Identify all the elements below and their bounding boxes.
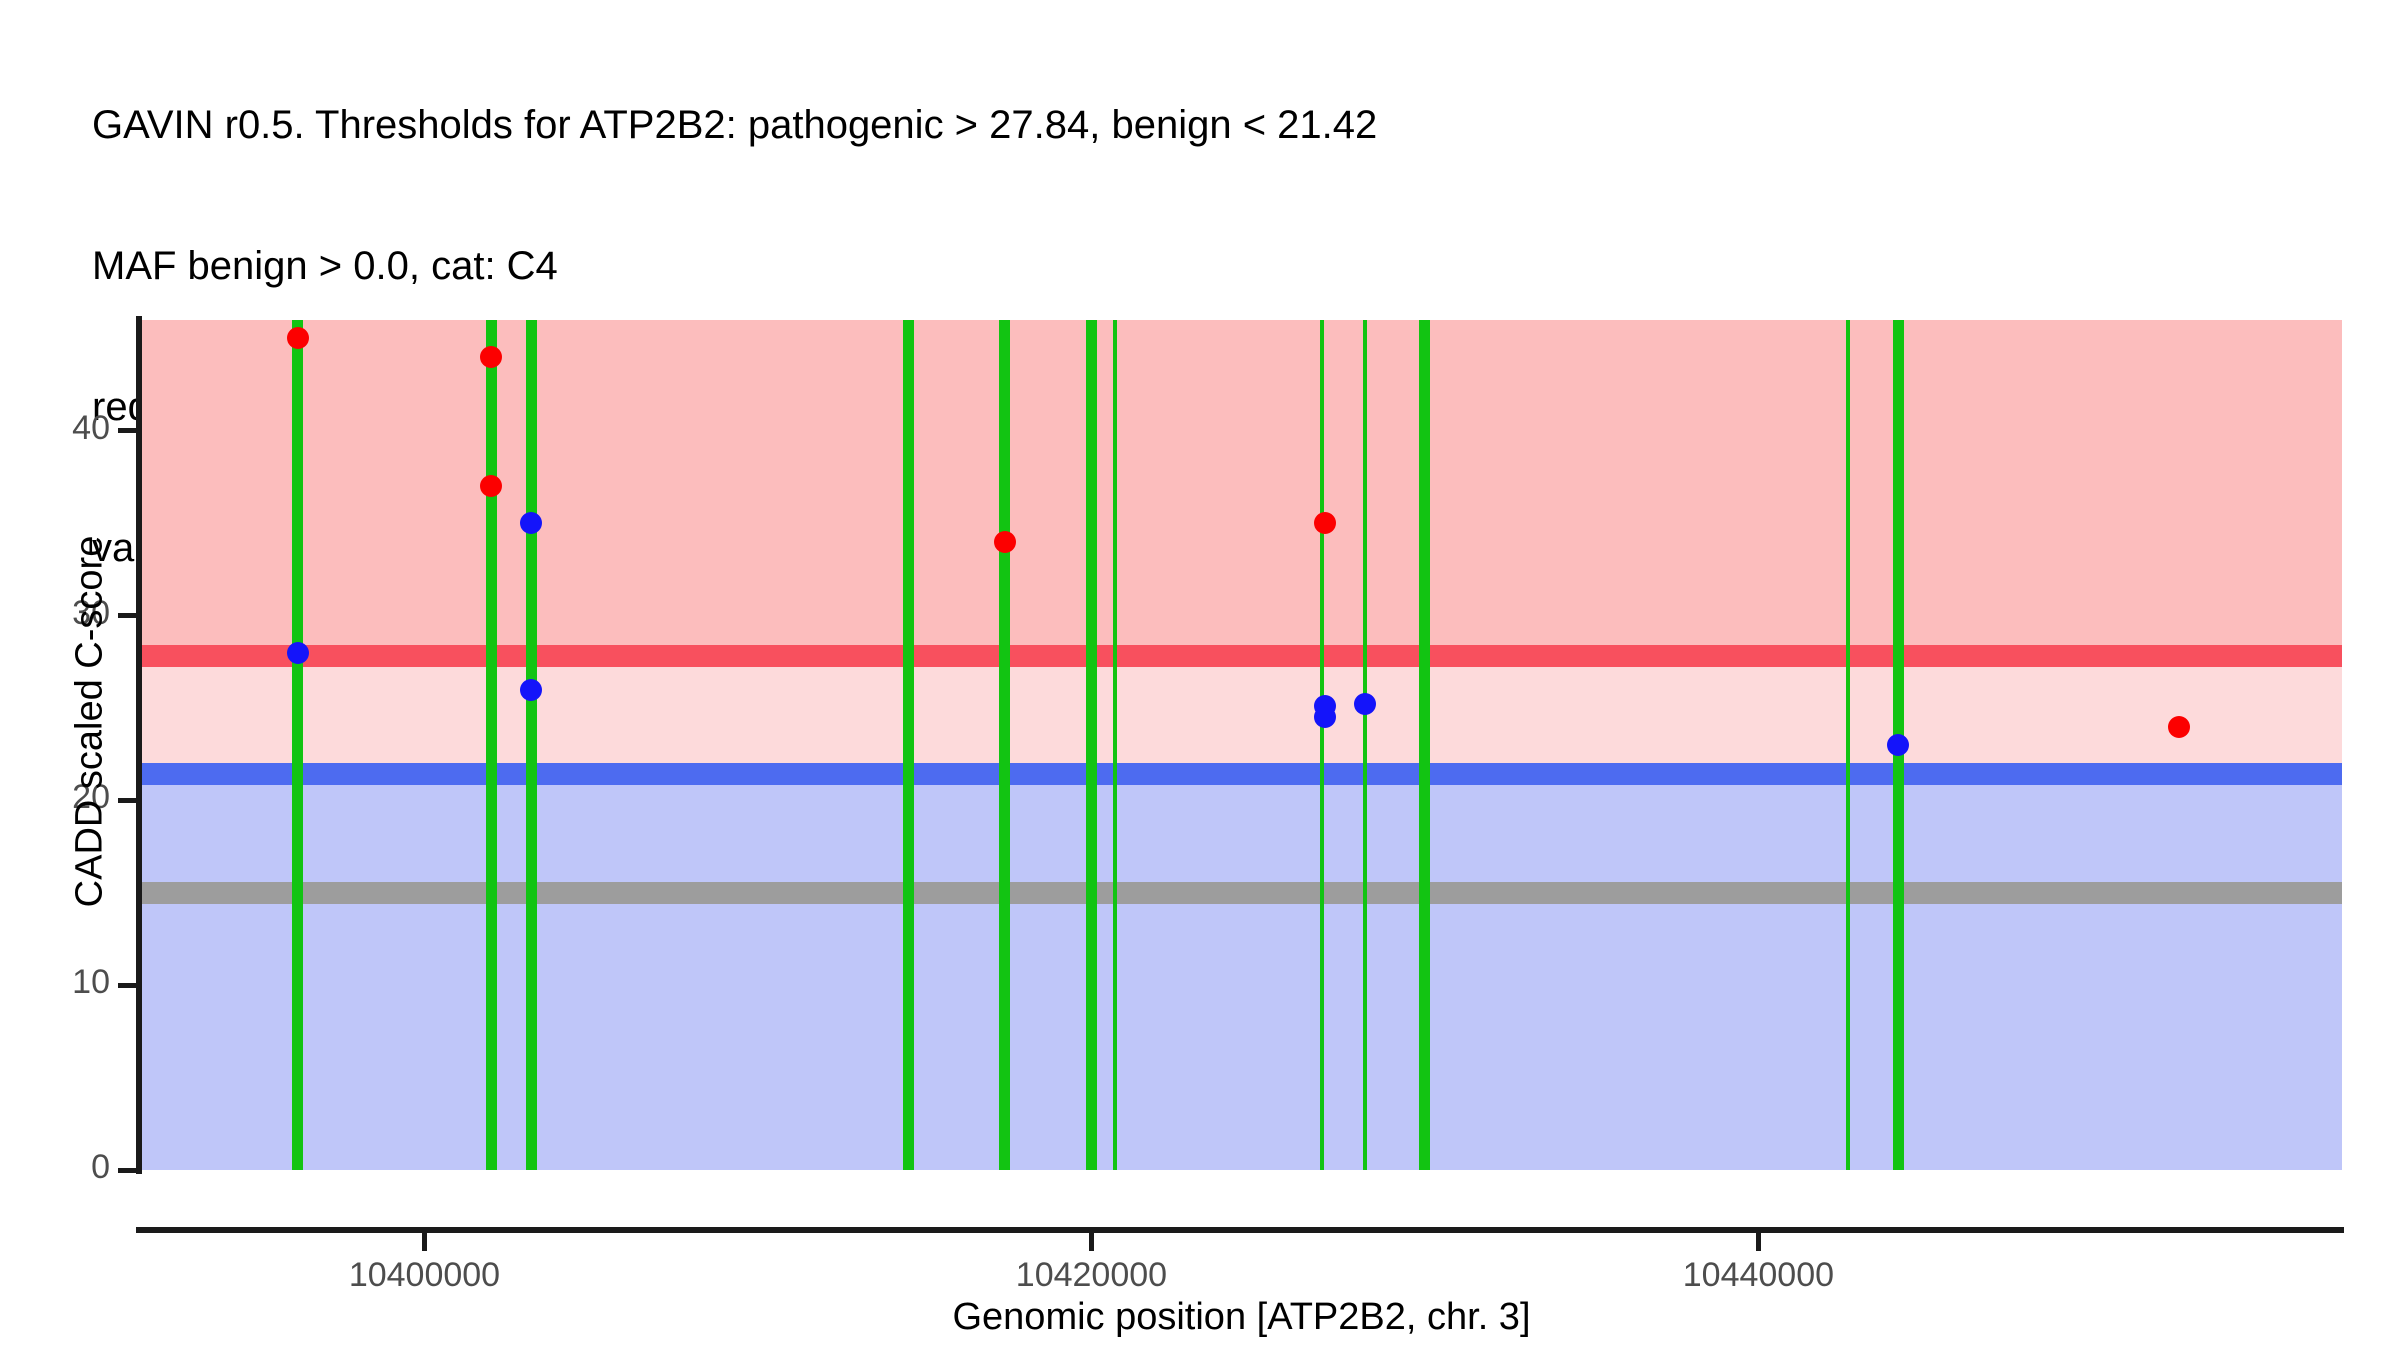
- y-tick-mark: [118, 798, 136, 803]
- pathogenic-variant-point: [2168, 716, 2190, 738]
- pathogenic-variant-point: [994, 531, 1016, 553]
- fallback-threshold-line: [141, 882, 2342, 904]
- x-axis-title: Genomic position [ATP2B2, chr. 3]: [141, 1296, 2342, 1339]
- plot-panel: [141, 320, 2342, 1170]
- ambiguous-region: [141, 656, 2342, 775]
- y-tick-mark: [118, 1168, 136, 1173]
- y-tick-mark: [118, 983, 136, 988]
- y-tick-mark: [118, 613, 136, 618]
- gnomad-variant-point: [1314, 706, 1336, 728]
- pathogenic-variant-point: [480, 346, 502, 368]
- y-axis-title: CADD scaled C-score: [69, 292, 112, 1152]
- y-tick-mark: [118, 428, 136, 433]
- exon-line: [1363, 320, 1367, 1170]
- pathogenic-region: [141, 320, 2342, 656]
- x-tick-mark: [1089, 1233, 1094, 1251]
- gnomad-variant-point: [520, 679, 542, 701]
- x-tick-label: 10420000: [1016, 1256, 1167, 1295]
- x-axis-line: [136, 1227, 2344, 1233]
- exon-line: [903, 320, 914, 1170]
- plot-area: 010203040 104000001042000010440000 CADD …: [0, 0, 2400, 1350]
- y-axis-line: [136, 316, 142, 1174]
- pathogenic-variant-point: [1314, 512, 1336, 534]
- pathogenic-threshold-line: [141, 645, 2342, 667]
- y-tick-label: 0: [40, 1148, 110, 1187]
- x-tick-label: 10400000: [349, 1256, 500, 1295]
- gnomad-variant-point: [287, 642, 309, 664]
- exon-line: [1419, 320, 1430, 1170]
- exon-line: [1320, 320, 1324, 1170]
- benign-region: [141, 774, 2342, 1170]
- exon-line: [292, 320, 303, 1170]
- exon-line: [526, 320, 537, 1170]
- exon-line: [486, 320, 497, 1170]
- exon-line: [1113, 320, 1117, 1170]
- exon-line: [1846, 320, 1850, 1170]
- benign-threshold-line: [141, 763, 2342, 785]
- exon-line: [1086, 320, 1097, 1170]
- exon-line: [999, 320, 1010, 1170]
- x-tick-mark: [1756, 1233, 1761, 1251]
- x-tick-label: 10440000: [1683, 1256, 1834, 1295]
- x-tick-mark: [422, 1233, 427, 1251]
